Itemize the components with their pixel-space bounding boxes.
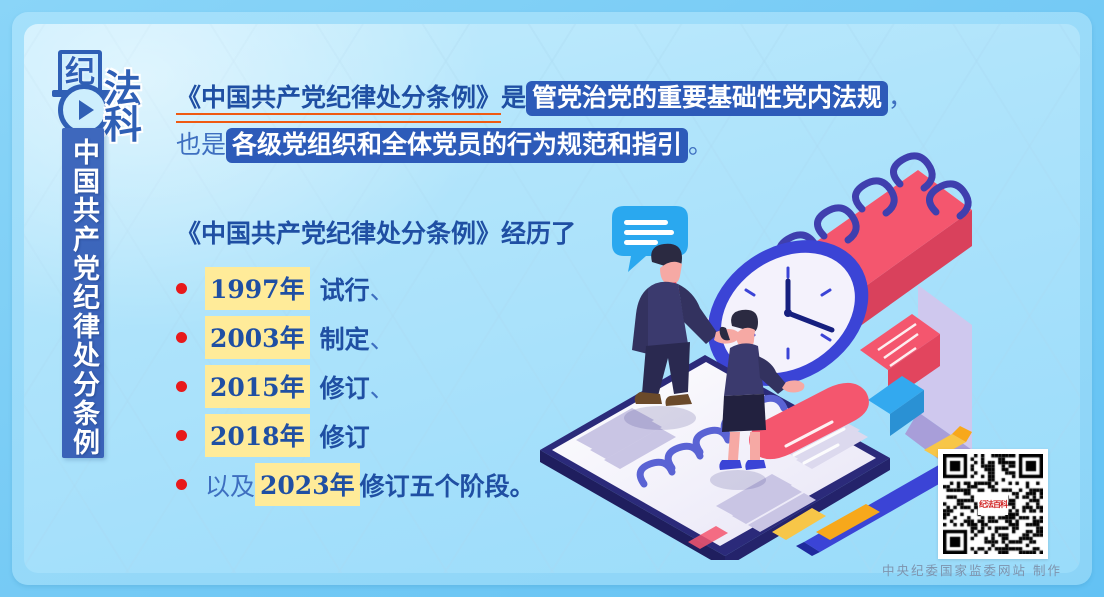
paragraph-line-1: 《中国共产党纪律处分条例》是管党治党的重要基础性党内法规，	[176, 74, 1056, 121]
list-item-action: 制定	[320, 320, 370, 356]
bullet-dot-icon	[176, 479, 187, 490]
qr-code[interactable]: 纪法百科	[938, 449, 1048, 559]
regulation-title: 《中国共产党纪律处分条例》	[176, 83, 501, 112]
final-item-year: 2023年	[255, 463, 360, 506]
list-item-year: 2015年	[205, 365, 310, 408]
final-item-tail: 五个阶段。	[410, 467, 535, 503]
bullet-dot-icon	[176, 283, 187, 294]
qr-center-logo: 纪法百科	[978, 493, 1008, 515]
list-item-year: 2003年	[205, 316, 310, 359]
logo: 纪 法 科	[52, 48, 160, 140]
paragraph-comma: ，	[888, 83, 913, 112]
list-item-action: 修订	[320, 418, 370, 454]
bullet-dot-icon	[176, 381, 187, 392]
footer-credit: 中央纪委国家监委网站 制作	[882, 560, 1062, 579]
paragraph-connector: 是	[501, 83, 526, 112]
list-item-action: 修订	[320, 369, 370, 405]
final-item-prefix: 以及	[205, 467, 255, 503]
list-item-year: 2018年	[205, 414, 310, 457]
vertical-title-banner: 中国共产党纪律处分条例	[62, 128, 104, 458]
list-item-suffix: 、	[370, 320, 395, 356]
list-item-suffix: 、	[370, 369, 395, 405]
paragraph-line2-lead: 也是	[176, 130, 226, 159]
play-triangle-icon	[79, 100, 94, 120]
list-item-suffix: 、	[370, 271, 395, 307]
list-item-year: 1997年	[205, 267, 310, 310]
list-item-action: 试行	[320, 271, 370, 307]
highlight-phrase-1: 管党治党的重要基础性党内法规	[526, 81, 888, 116]
brand-block: 纪 法 科	[52, 48, 162, 140]
final-item-action: 修订	[360, 467, 410, 503]
bullet-dot-icon	[176, 332, 187, 343]
bullet-dot-icon	[176, 430, 187, 441]
poster-canvas: 纪 法 科 中国共产党纪律处分条例 《中国共产党纪律处分条例》是管党治党的重要基…	[0, 0, 1104, 597]
logo-ke-char: 科	[104, 94, 142, 149]
